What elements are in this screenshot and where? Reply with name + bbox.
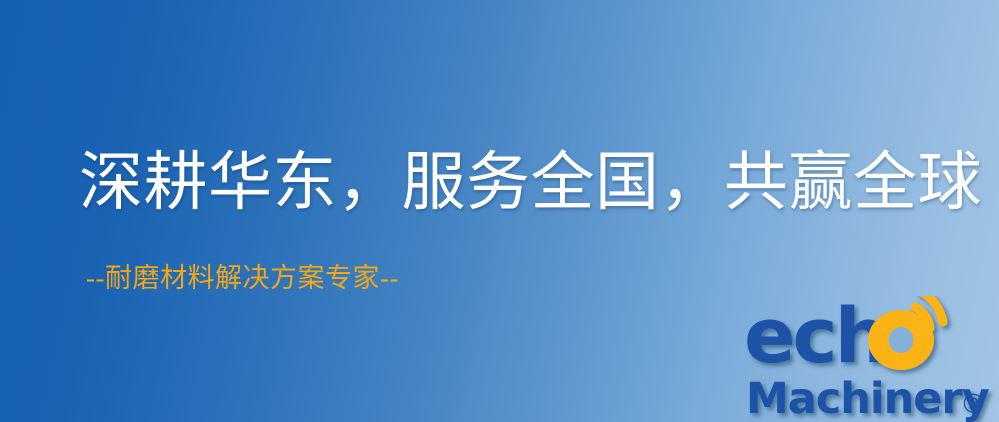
logo-text-machinery: Machinery [746, 374, 990, 422]
company-logo[interactable]: ech Machinery ® [744, 296, 999, 422]
page-subtitle: --耐磨材料解决方案专家-- [86, 265, 399, 292]
logo-trademark-symbol: ® [960, 389, 987, 420]
logo-text-ech: ech [744, 296, 886, 380]
page-title: 深耕华东，服务全国，共赢全球 [79, 151, 959, 215]
hero-banner: 深耕华东，服务全国，共赢全球 --耐磨材料解决方案专家-- ech [0, 0, 999, 422]
